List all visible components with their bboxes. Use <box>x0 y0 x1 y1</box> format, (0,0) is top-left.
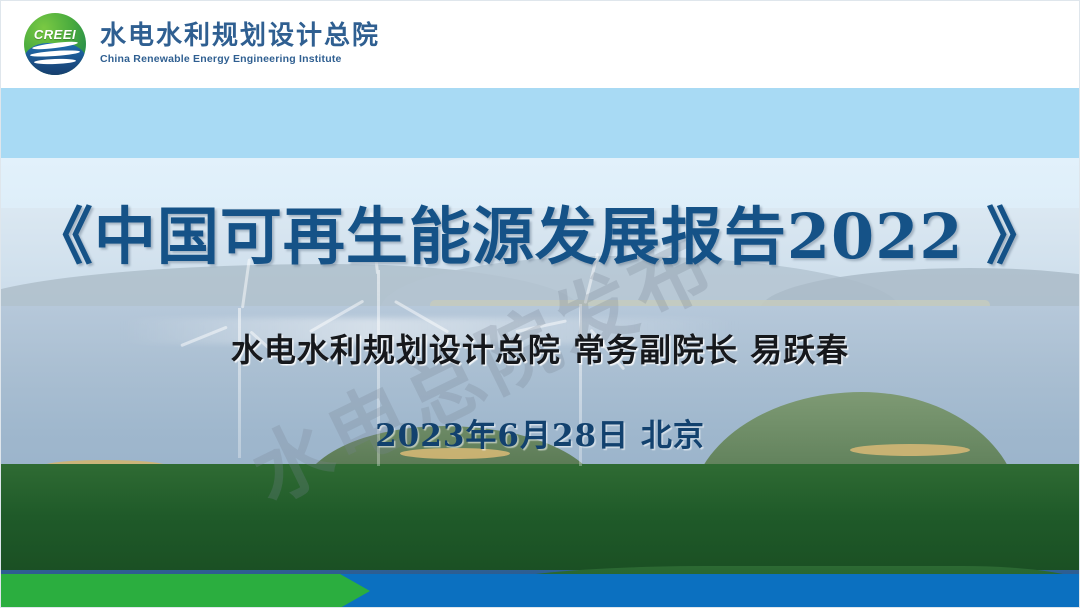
organization-name-en: China Renewable Energy Engineering Insti… <box>100 53 380 65</box>
logo-wordmark: 水电水利规划设计总院 China Renewable Energy Engine… <box>100 23 380 66</box>
footer-green-chevron <box>0 574 370 608</box>
footer-bar <box>0 574 1080 608</box>
organization-name-cn: 水电水利规划设计总院 <box>100 23 380 51</box>
slide-body: 水电总院发布 《中国可再生能源发展报告2022 》 水电水利规划设计总院 常务副… <box>0 88 1080 608</box>
creei-logo-icon: CREEI <box>24 13 86 75</box>
slide-title: 《中国可再生能源发展报告2022 》 <box>0 186 1080 276</box>
title-slide: CREEI 水电水利规划设计总院 China Renewable Energy … <box>0 0 1080 608</box>
slide-header: CREEI 水电水利规划设计总院 China Renewable Energy … <box>0 0 1080 88</box>
slide-dateline: 2023年6月28日 北京 <box>0 410 1080 455</box>
top-color-band <box>0 88 1080 158</box>
logo-mark-text: CREEI <box>24 27 86 42</box>
slide-subtitle-presenter: 水电水利规划设计总院 常务副院长 易跃春 <box>0 325 1080 371</box>
